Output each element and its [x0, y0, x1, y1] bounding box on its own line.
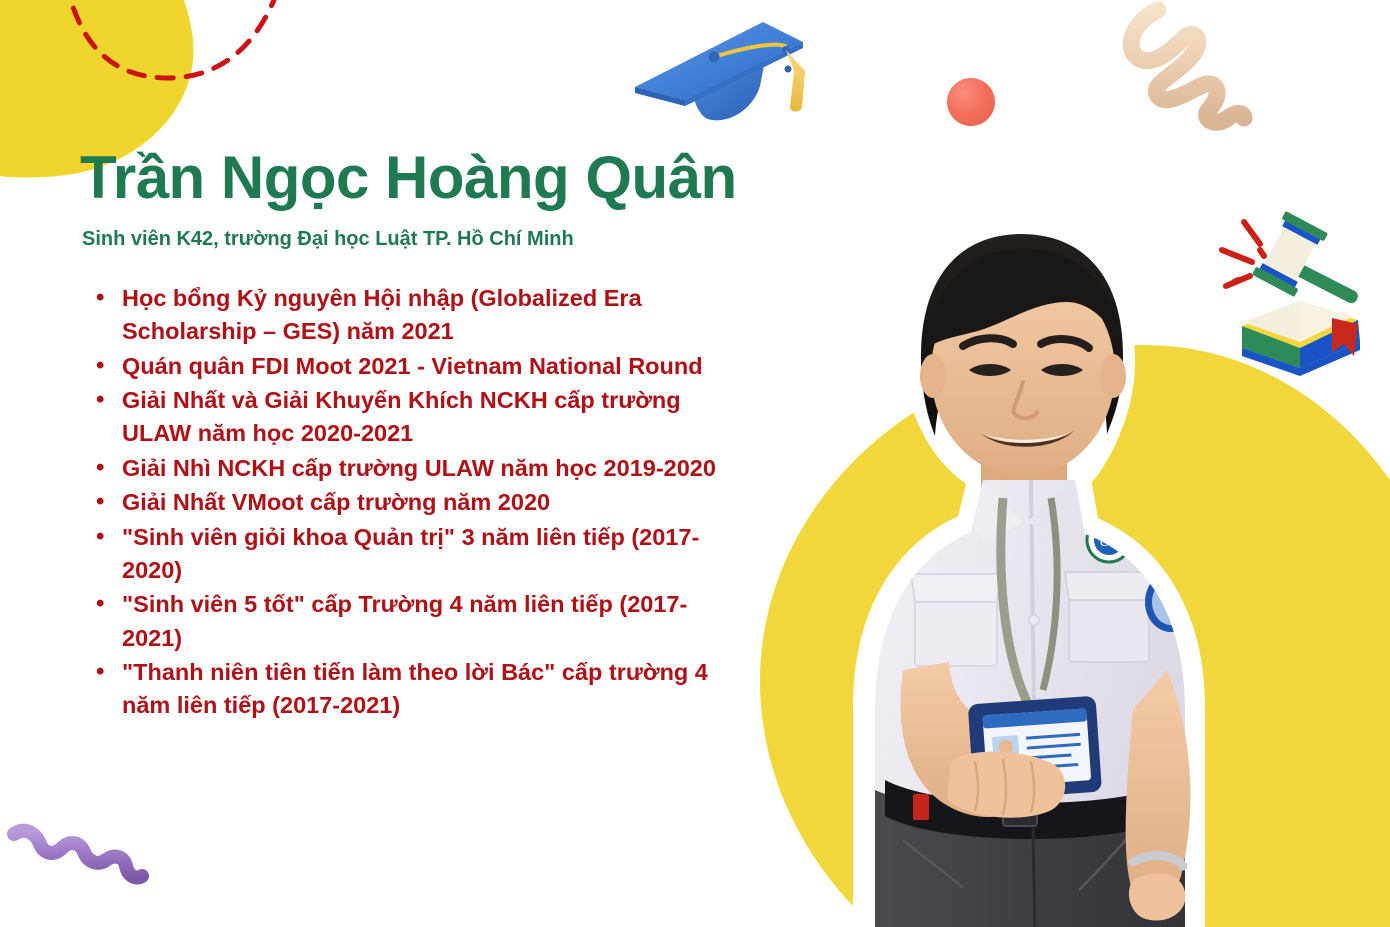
poster-canvas: UL: [0, 0, 1390, 927]
page-title: Trần Ngọc Hoàng Quân: [80, 143, 737, 212]
list-item: "Sinh viên 5 tốt" cấp Trường 4 năm liên …: [86, 588, 746, 655]
page-subtitle: Sinh viên K42, trường Đại học Luật TP. H…: [82, 228, 574, 251]
list-item: Giải Nhất và Giải Khuyến Khích NCKH cấp …: [86, 384, 746, 451]
achievements-list: Học bổng Kỷ nguyên Hội nhập (Globalized …: [86, 282, 746, 724]
list-item: "Sinh viên giỏi khoa Quản trị" 3 năm liê…: [86, 521, 746, 588]
coral-sphere-icon: [947, 78, 995, 126]
graduation-cap-icon: [615, 14, 845, 149]
beige-squiggle-icon: [1110, 2, 1320, 172]
list-item: Giải Nhất VMoot cấp trường năm 2020: [86, 486, 746, 519]
list-item: "Thanh niên tiên tiến làm theo lời Bác" …: [86, 656, 746, 723]
list-item: Giải Nhì NCKH cấp trường ULAW năm học 20…: [86, 452, 746, 485]
purple-squiggle-icon: [6, 818, 151, 900]
list-item: Học bổng Kỷ nguyên Hội nhập (Globalized …: [86, 282, 746, 349]
student-portrait: UL: [735, 150, 1295, 927]
list-item: Quán quân FDI Moot 2021 - Vietnam Nation…: [86, 350, 746, 383]
red-dashed-arc-icon: [0, 0, 320, 106]
